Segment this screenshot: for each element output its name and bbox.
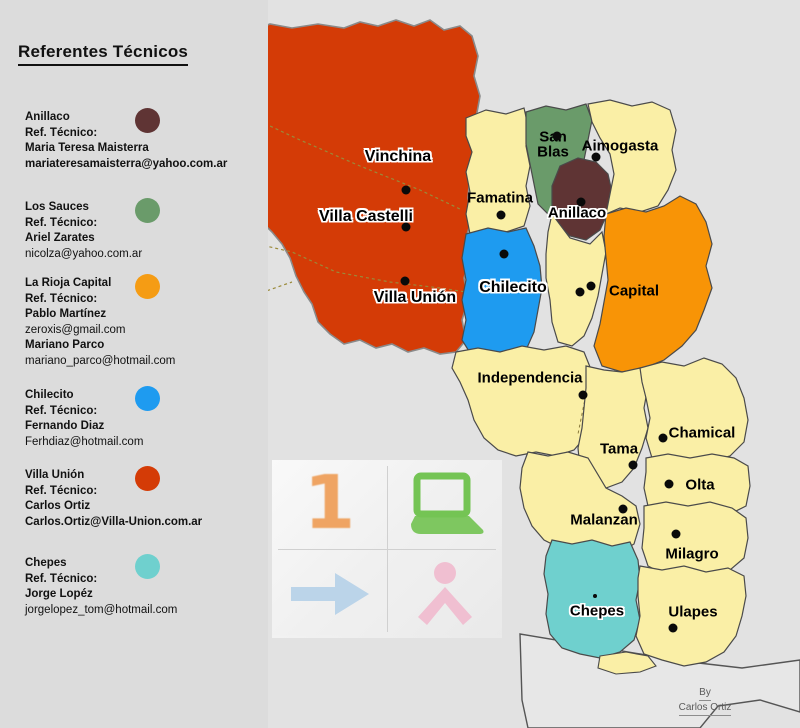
city-marker [669,624,678,633]
map-label-chamical[interactable]: Chamical [669,425,736,440]
region-chamical[interactable] [640,358,748,462]
one-to-one-logo: 1 [272,460,502,638]
legend-contact-email: mariano_parco@hotmail.com [25,354,175,370]
legend-entry-chepes[interactable]: ChepesRef. Técnico:Jorge Lopézjorgelopez… [25,556,177,618]
city-marker [402,223,411,232]
legend-entry-anillaco[interactable]: AnillacoRef. Técnico:Maria Teresa Maiste… [25,110,227,172]
city-marker [665,480,674,489]
legend-entry-la-rioja-capital[interactable]: La Rioja CapitalRef. Técnico:Pablo Martí… [25,276,175,369]
legend-color-swatch-los-sauces [135,198,160,223]
legend-contact-name: Ariel Zarates [25,231,142,247]
legend-role: Ref. Técnico: [25,484,202,500]
legend-title: Referentes Técnicos [18,42,188,66]
map-label-malanzan[interactable]: Malanzan [570,512,638,527]
logo-laptop-cell [387,460,502,549]
arrow-right-icon [287,569,373,619]
map-label-olta[interactable]: Olta [685,477,714,492]
legend-contact-email: Carlos.Ortiz@Villa-Union.com.ar [25,515,202,531]
logo-digit-one-cell: 1 [272,460,387,549]
map-label-capital[interactable]: Capital [609,283,659,298]
legend-contact-name: Jorge Lopéz [25,587,177,603]
legend-contact-name: Fernando Diaz [25,419,143,435]
logo-person-cell [387,549,502,638]
map-label-milagro[interactable]: Milagro [665,546,718,561]
attribution-by: By [699,686,711,701]
map-label-villa-castelli[interactable]: Villa Castelli [319,209,413,225]
person-icon [410,559,480,629]
legend-entry-text: ChilecitoRef. Técnico:Fernando DiazFerhd… [25,388,143,450]
map-label-famatina[interactable]: Famatina [467,190,533,205]
city-marker [629,461,638,470]
map-label-vinchina[interactable]: Vinchina [365,149,431,165]
legend-color-swatch-villa-union [135,466,160,491]
legend-locality: Chilecito [25,388,143,404]
legend-role: Ref. Técnico: [25,404,143,420]
city-marker [553,132,562,141]
map-label-chilecito[interactable]: Chilecito [479,280,547,296]
legend-contact-email: jorgelopez_tom@hotmail.com [25,603,177,619]
legend-role: Ref. Técnico: [25,126,227,142]
city-marker [401,277,410,286]
legend-color-swatch-chepes [135,554,160,579]
city-marker [659,434,668,443]
map-label-villa-uni-n[interactable]: Villa Unión [374,290,456,306]
legend-entry-chilecito[interactable]: ChilecitoRef. Técnico:Fernando DiazFerhd… [25,388,143,450]
legend-entry-text: AnillacoRef. Técnico:Maria Teresa Maiste… [25,110,227,172]
logo-arrow-cell [272,549,387,638]
map-label-chepes[interactable]: Chepes [570,603,624,618]
city-marker [500,250,509,259]
laptop-icon [403,472,487,538]
legend-contact-email: Ferhdiaz@hotmail.com [25,435,143,451]
map-label-aimogasta[interactable]: Aimogasta [582,138,659,153]
legend-role: Ref. Técnico: [25,216,142,232]
legend-color-swatch-anillaco [135,108,160,133]
legend-contact-email: nicolza@yahoo.com.ar [25,247,142,263]
city-marker [577,198,586,207]
map-label-tama[interactable]: Tama [600,441,638,456]
city-marker [497,211,506,220]
legend-entry-text: Villa UniónRef. Técnico:Carlos OrtizCarl… [25,468,202,530]
city-marker [576,288,585,297]
map-label-independencia[interactable]: Independencia [477,370,582,385]
legend-locality: Villa Unión [25,468,202,484]
legend-color-swatch-la-rioja-capital [135,274,160,299]
city-marker [579,391,588,400]
region-chepes[interactable] [544,540,640,658]
legend-contact-name: Pablo Martínez [25,307,175,323]
map-label-anillaco[interactable]: Anillaco [548,205,606,220]
legend-contact-name: Maria Teresa Maisterra [25,141,227,157]
map-screenshot: 1 Referentes Técnico [0,0,800,728]
city-marker [619,505,628,514]
legend-panel: Referentes Técnicos AnillacoRef. Técnico… [0,0,268,728]
city-marker [592,153,601,162]
legend-color-swatch-chilecito [135,386,160,411]
legend-contact-email: mariateresamaisterra@yahoo.com.ar [25,157,227,173]
legend-locality: Los Sauces [25,200,142,216]
city-marker [672,530,681,539]
city-marker [402,186,411,195]
legend-contact-name: Carlos Ortiz [25,499,202,515]
map-label-ulapes[interactable]: Ulapes [668,604,717,619]
city-marker [587,282,596,291]
legend-locality: Anillaco [25,110,227,126]
attribution-author: Carlos Ortiz [679,701,732,716]
legend-entry-text: Los SaucesRef. Técnico:Ariel Zaratesnico… [25,200,142,262]
city-marker [593,594,597,598]
legend-contact-name: Mariano Parco [25,338,175,354]
attribution: By Carlos Ortiz [660,686,750,716]
legend-contact-email: zeroxis@gmail.com [25,323,175,339]
region-milagro[interactable] [642,502,748,574]
legend-entry-villa-union[interactable]: Villa UniónRef. Técnico:Carlos OrtizCarl… [25,468,202,530]
logo-grid: 1 [272,460,502,638]
legend-entry-los-sauces[interactable]: Los SaucesRef. Técnico:Ariel Zaratesnico… [25,200,142,262]
digit-one-icon: 1 [304,466,356,540]
